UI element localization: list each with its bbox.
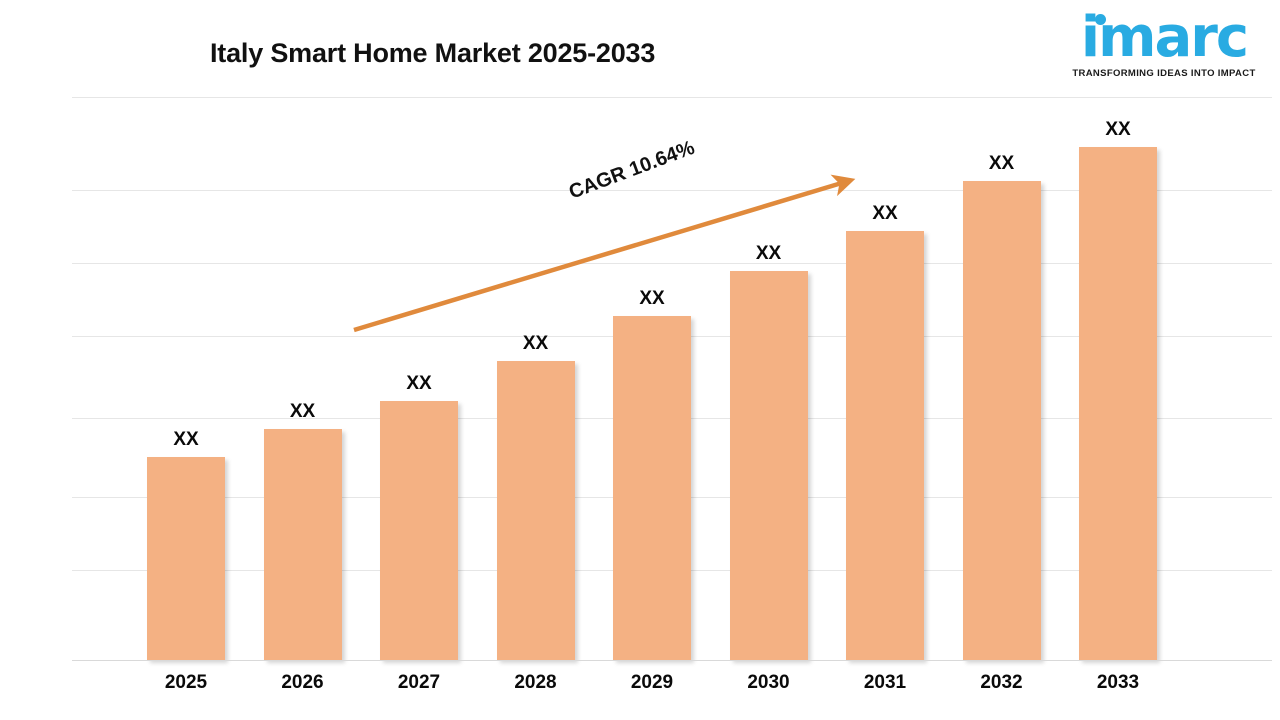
- bar-value-label: XX: [127, 429, 245, 451]
- bar-value-label: XX: [826, 203, 944, 225]
- logo-dot-icon: [1095, 14, 1106, 25]
- axis-baseline: [72, 660, 1272, 661]
- bar-group: XX: [147, 423, 225, 660]
- bar-value-label: XX: [943, 153, 1061, 175]
- bar[interactable]: [846, 231, 924, 660]
- x-axis-label-2029: 2029: [593, 672, 711, 694]
- imarc-logo: imarc TRANSFORMING IDEAS INTO IMPACT: [1066, 8, 1262, 82]
- bar-group: XX: [264, 395, 342, 660]
- bar[interactable]: [264, 429, 342, 660]
- bar[interactable]: [147, 457, 225, 660]
- bar[interactable]: [497, 361, 575, 660]
- bar-group: XX: [380, 367, 458, 660]
- x-axis-label-2031: 2031: [826, 672, 944, 694]
- bar-group: XX: [1079, 113, 1157, 660]
- bar-series: XXXXXXXXXXXXXXXXXX: [72, 97, 1272, 661]
- bar-value-label: XX: [1059, 119, 1177, 141]
- x-axis-label-2027: 2027: [360, 672, 478, 694]
- x-axis-label-2033: 2033: [1059, 672, 1177, 694]
- bar-group: XX: [497, 327, 575, 660]
- bar-value-label: XX: [360, 373, 478, 395]
- bar[interactable]: [380, 401, 458, 660]
- bar-group: XX: [613, 282, 691, 660]
- bar[interactable]: [730, 271, 808, 660]
- bar[interactable]: [1079, 147, 1157, 660]
- x-axis-label-2028: 2028: [477, 672, 595, 694]
- bar-group: XX: [730, 237, 808, 660]
- bar-value-label: XX: [244, 401, 362, 423]
- x-axis-label-2030: 2030: [710, 672, 828, 694]
- x-axis-label-2026: 2026: [244, 672, 362, 694]
- x-axis-label-2032: 2032: [943, 672, 1061, 694]
- page-title: Italy Smart Home Market 2025-2033: [210, 38, 655, 69]
- logo-tagline: TRANSFORMING IDEAS INTO IMPACT: [1066, 68, 1262, 79]
- plot-area: XXXXXXXXXXXXXXXXXX: [72, 97, 1272, 661]
- bar-group: XX: [963, 147, 1041, 660]
- bar[interactable]: [613, 316, 691, 660]
- chart-header: Italy Smart Home Market 2025-2033 imarc …: [0, 0, 1280, 97]
- x-axis-label-2025: 2025: [127, 672, 245, 694]
- bar-value-label: XX: [477, 333, 595, 355]
- x-axis-tick-labels: 202520262027202820292030203120322033: [72, 672, 1272, 712]
- chart-page: Italy Smart Home Market 2025-2033 imarc …: [0, 0, 1280, 720]
- bar-group: XX: [846, 197, 924, 660]
- bar-value-label: XX: [710, 243, 828, 265]
- bar-value-label: XX: [593, 288, 711, 310]
- bar[interactable]: [963, 181, 1041, 660]
